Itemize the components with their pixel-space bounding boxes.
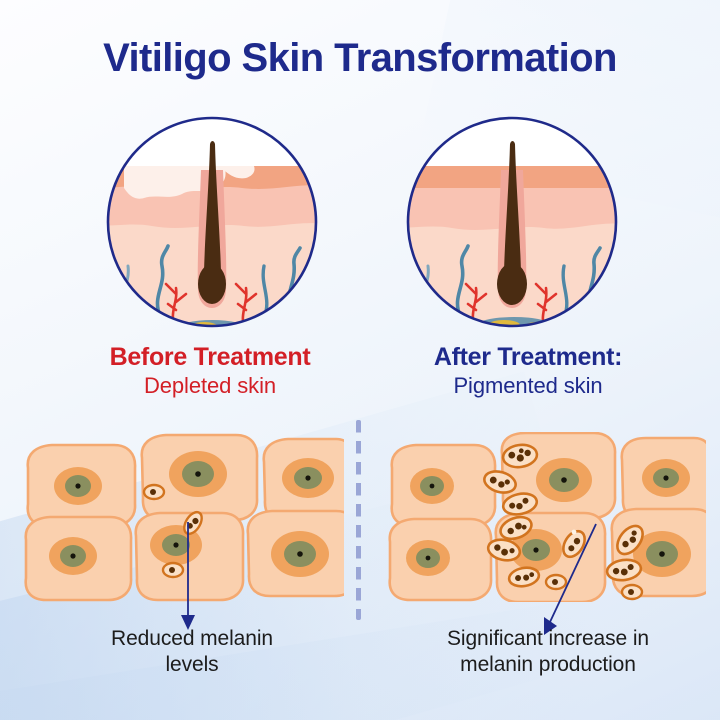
after-caption: Significant increase in melanin producti… (388, 626, 708, 679)
annotation-arrow-diagonal-icon (520, 520, 630, 638)
skin-cross-section-pigmented-icon (404, 114, 620, 330)
after-label-main: After Treatment: (363, 342, 693, 373)
vertical-dashed-divider (356, 420, 361, 620)
after-caption-line2: melanin production (388, 652, 708, 678)
before-label-main: Before Treatment (45, 342, 375, 373)
before-caption-line2: levels (42, 652, 342, 678)
after-caption-line1: Significant increase in (388, 626, 708, 652)
page-title: Vitiligo Skin Transformation (0, 36, 720, 80)
skin-cross-section-depleted-icon (104, 114, 320, 330)
infographic-canvas: Vitiligo Skin Transformation (0, 0, 720, 720)
annotation-arrow-down-icon (150, 520, 250, 632)
before-label-block: Before Treatment Depleted skin (45, 342, 375, 399)
after-label-block: After Treatment: Pigmented skin (363, 342, 693, 399)
after-label-sub: Pigmented skin (363, 373, 693, 400)
before-label-sub: Depleted skin (45, 373, 375, 400)
before-caption: Reduced melanin levels (42, 626, 342, 679)
before-caption-line1: Reduced melanin (42, 626, 342, 652)
